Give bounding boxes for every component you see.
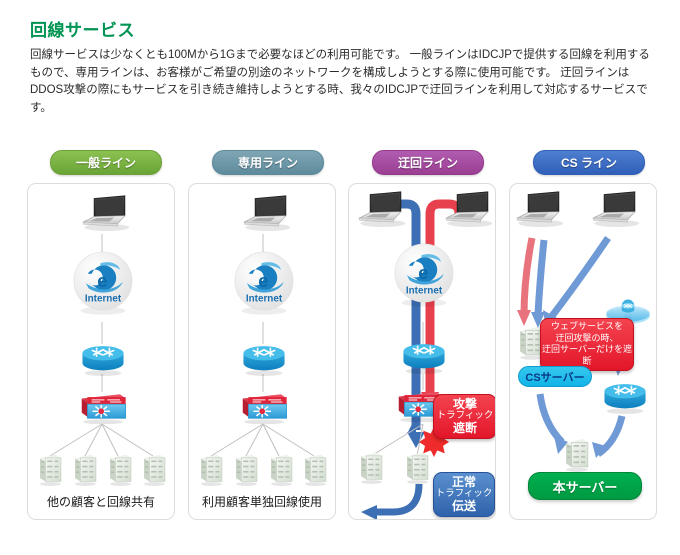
traffic-arrow-4 xyxy=(540,394,568,454)
server-icon xyxy=(271,455,292,486)
badge-dedicated-line[interactable]: 専用ライン xyxy=(212,150,324,175)
server-icon xyxy=(520,327,542,360)
server-icon xyxy=(361,453,382,484)
diagram-dedicated-line xyxy=(189,184,336,520)
return-flow xyxy=(375,484,419,512)
panel-dedicated-line: 利用顧客単独回線使用 xyxy=(188,183,336,520)
callout-line-2: 迂回攻撃の時、 xyxy=(541,333,633,345)
server-icon xyxy=(75,455,96,486)
callout-line-1: 正常 xyxy=(434,476,494,488)
switch-icon xyxy=(243,394,287,424)
laptop-icon xyxy=(244,196,290,231)
panel-cs-line: ウェブサービスを 迂回攻撃の時、 迂回サーバーだけを遮断 CSサーバー 本サーバ… xyxy=(509,183,657,520)
switch-icon xyxy=(82,394,126,424)
attack-callout: 攻撃 トラフィック 遮断 xyxy=(433,394,496,439)
callout-line-1: ウェブサービスを xyxy=(541,321,633,333)
intro-paragraph: 回線サービスは少なくとも100Mから1Gまで必要なほどの利用可能です。 一般ライ… xyxy=(30,47,655,117)
server-icon xyxy=(110,455,131,486)
server-icon xyxy=(201,455,222,486)
callout-line-3: 迂回サーバーだけを遮断 xyxy=(541,344,633,367)
internet-cloud-icon xyxy=(395,244,453,307)
traffic-arrow-2 xyxy=(543,238,608,330)
panel-caption: 利用顧客単独回線使用 xyxy=(189,493,335,510)
laptop-icon xyxy=(83,196,129,231)
main-server-pill[interactable]: 本サーバー xyxy=(528,472,642,500)
server-icon xyxy=(144,455,165,486)
callout-line-3: 伝送 xyxy=(434,500,494,512)
server-icon xyxy=(305,455,326,486)
callout-line-1: 攻撃 xyxy=(434,398,496,410)
laptop-icon xyxy=(517,192,563,227)
laptop-icon xyxy=(593,192,639,227)
badge-bypass-line[interactable]: 迂回ライン xyxy=(372,150,484,175)
internet-cloud-icon xyxy=(74,252,132,315)
router-icon xyxy=(243,346,284,376)
normal-callout: 正常 トラフィック 伝送 xyxy=(433,472,495,517)
traffic-arrow-1 xyxy=(531,240,545,328)
web-service-callout: ウェブサービスを 迂回攻撃の時、 迂回サーバーだけを遮断 xyxy=(540,318,634,371)
attack-arrow xyxy=(517,238,532,326)
diagram-bypass-line xyxy=(349,184,496,520)
server-icon xyxy=(407,453,428,484)
page-title: 回線サービス xyxy=(30,16,135,41)
router-icon xyxy=(403,344,444,374)
attack-traffic-flow xyxy=(421,204,459,410)
page-root: e Internet xyxy=(0,0,680,555)
router-icon xyxy=(604,384,645,414)
panel-bypass-line: 攻撃 トラフィック 遮断 正常 トラフィック 伝送 xyxy=(348,183,496,520)
diagram-general-line xyxy=(28,184,175,520)
traffic-arrow-5 xyxy=(592,416,622,458)
callout-line-3: 遮断 xyxy=(434,422,496,434)
panel-general-line: 他の顧客と回線共有 xyxy=(27,183,175,520)
badge-general-line[interactable]: 一般ライン xyxy=(50,150,162,175)
server-icon xyxy=(566,439,588,472)
laptop-icon xyxy=(359,192,405,227)
panel-caption: 他の顧客と回線共有 xyxy=(28,493,174,510)
router-icon xyxy=(82,346,123,376)
server-icon xyxy=(236,455,257,486)
server-icon xyxy=(40,455,61,486)
badge-cs-line[interactable]: CS ライン xyxy=(533,150,645,175)
internet-cloud-icon xyxy=(235,252,293,315)
cs-server-pill[interactable]: CSサーバー xyxy=(518,366,592,387)
